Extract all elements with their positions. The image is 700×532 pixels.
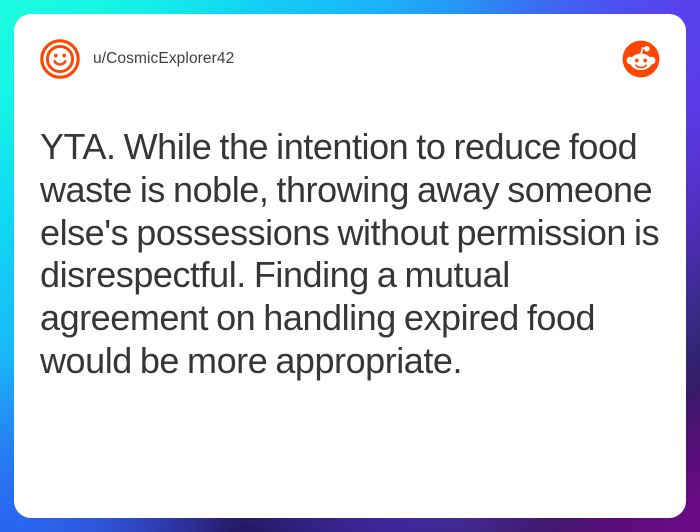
- username-label: u/CosmicExplorer42: [93, 50, 234, 68]
- card-header: u/CosmicExplorer42: [40, 36, 660, 82]
- author-block[interactable]: u/CosmicExplorer42: [40, 39, 234, 79]
- card-body: YTA. While the intention to reduce food …: [40, 82, 660, 492]
- smiley-face-avatar-icon[interactable]: [40, 39, 80, 79]
- reddit-comment-card: u/CosmicExplorer42 YTA. While the intent…: [14, 14, 686, 518]
- comment-text: YTA. While the intention to reduce food …: [40, 126, 660, 383]
- reddit-snoo-logo-icon[interactable]: [622, 40, 660, 78]
- gradient-background: u/CosmicExplorer42 YTA. While the intent…: [0, 0, 700, 532]
